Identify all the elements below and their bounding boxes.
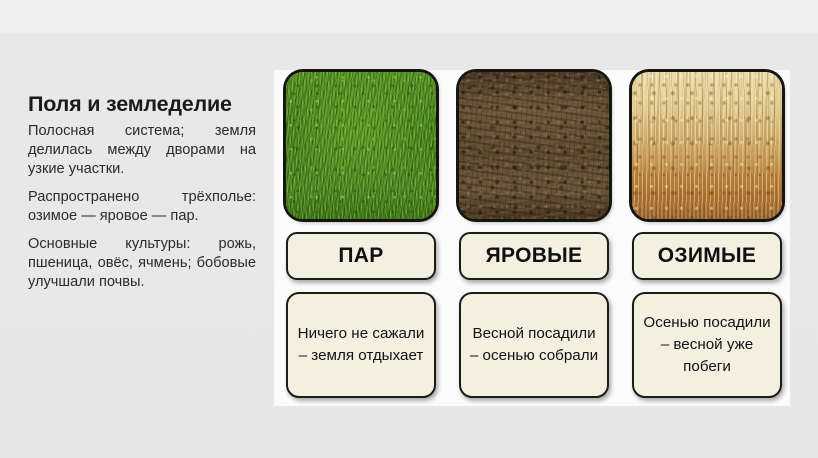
slide-canvas: Поля и земледелие Полосная система; земл… [0,0,818,458]
soil-texture [459,72,609,219]
diagram-column-ozimye: ОЗИМЫЕ Осенью посадили – весной уже побе… [632,70,782,406]
diagram-panel: ПАР Ничего не сажали – земля отдыхает ЯР… [274,70,790,406]
description-box-ozimye: Осенью посадили – весной уже побеги [632,292,782,398]
text-column: Поля и земледелие Полосная система; земл… [28,92,256,292]
description-box-yarovye: Весной посадили – осенью собрали [459,292,609,398]
paragraph-three-field: Распространено трёхполье: озимое — ярово… [28,188,256,226]
page-title: Поля и земледелие [28,92,256,116]
diagram-column-par: ПАР Ничего не сажали – земля отдыхает [286,70,436,406]
paragraph-strip-system: Полосная система; земля делилась между д… [28,122,256,179]
paragraph-main-crops: Основные культуры: рожь, пшеница, овёс, … [28,235,256,292]
grass-field-photo [286,72,436,219]
label-box-ozimye: ОЗИМЫЕ [632,232,782,280]
description-box-par: Ничего не сажали – земля отдыхает [286,292,436,398]
label-box-yarovye: ЯРОВЫЕ [459,232,609,280]
grass-texture [286,72,436,219]
wheat-texture [632,72,782,219]
label-box-par: ПАР [286,232,436,280]
diagram-column-yarovye: ЯРОВЫЕ Весной посадили – осенью собрали [459,70,609,406]
ploughed-soil-photo [459,72,609,219]
wheat-field-photo [632,72,782,219]
